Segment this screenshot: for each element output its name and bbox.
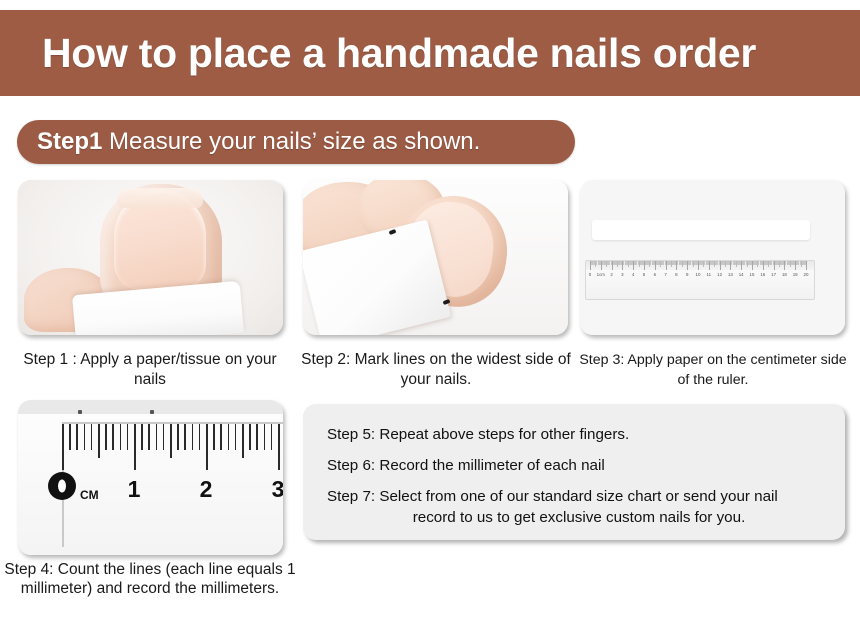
ruler-zero-marker — [48, 472, 76, 500]
ruler-tick — [235, 424, 237, 450]
ruler-tick — [242, 424, 244, 458]
ruler-tick — [170, 424, 172, 458]
paper-strip-shape — [592, 220, 810, 240]
ruler-number: 18 — [782, 272, 787, 277]
ruler-number: 11 — [707, 272, 712, 277]
ruler-closeup-photo: CM 123 — [18, 400, 283, 555]
ruler-tick — [184, 424, 186, 450]
ruler-pin-right — [150, 410, 154, 414]
fingertip-with-paper-photo — [18, 180, 283, 335]
ruler-tick — [256, 424, 258, 450]
ruler-number: 14 — [739, 272, 744, 277]
ruler-pin-left — [78, 410, 82, 414]
ruler-number: 7 — [664, 272, 666, 277]
step1-banner: Step1 Measure your nails’ size as shown. — [17, 120, 575, 164]
caption-step-2: Step 2: Mark lines on the widest side of… — [296, 350, 576, 390]
ruler-tick — [177, 424, 179, 450]
ruler-tick — [156, 424, 158, 450]
step-line-continuation: record to us to get exclusive custom nai… — [327, 507, 821, 528]
ruler-tick — [127, 424, 129, 450]
ruler-tick — [120, 424, 122, 450]
ruler-number: 2 — [610, 272, 612, 277]
ruler-tick — [112, 424, 114, 450]
ruler-tick — [141, 424, 143, 450]
ruler-number: 12 — [717, 272, 722, 277]
ruler-centimeter-number: 2 — [200, 478, 213, 501]
ruler-number: 16 — [760, 272, 765, 277]
ruler-number: 9 — [686, 272, 688, 277]
caption-step-3: Step 3: Apply paper on the centimeter si… — [572, 350, 854, 390]
step-line: Step 5: Repeat above steps for other fin… — [327, 424, 821, 445]
steps-list: Step 5: Repeat above steps for other fin… — [303, 404, 845, 528]
step-line: Step 7: Select from one of our standard … — [327, 486, 821, 528]
marked-paper-strip-photo — [303, 180, 568, 335]
ruler-number: 6 — [654, 272, 656, 277]
ruler-tick — [271, 424, 273, 450]
ruler-tick — [91, 424, 93, 450]
ruler-with-paper-photo: 01cm234567891011121314151617181920 — [580, 180, 845, 335]
step1-banner-label: Step1 Measure your nails’ size as shown. — [37, 128, 480, 156]
ruler-number: 17 — [771, 272, 776, 277]
caption-step-1: Step 1 : Apply a paper/tissue on your na… — [10, 350, 290, 390]
ruler-tick — [98, 424, 100, 458]
ruler-number: 8 — [675, 272, 677, 277]
ruler-tick — [105, 424, 107, 450]
ruler-number: 0 — [589, 272, 591, 277]
ruler-tick — [163, 424, 165, 450]
step1-bold-label: Step1 — [37, 128, 102, 155]
ruler-number: 10 — [696, 272, 701, 277]
ruler-tick — [228, 424, 230, 450]
steps-5-to-7-panel: Step 5: Repeat above steps for other fin… — [303, 404, 845, 540]
title-banner: How to place a handmade nails order — [0, 10, 860, 96]
ruler-tick — [199, 424, 201, 450]
ruler-tick — [62, 424, 64, 470]
ruler-number: 4 — [632, 272, 634, 277]
step-line: Step 6: Record the millimeter of each na… — [327, 455, 821, 476]
ruler-number: 13 — [728, 272, 733, 277]
caption-step-4: Step 4: Count the lines (each line equal… — [4, 560, 296, 598]
page-title: How to place a handmade nails order — [42, 30, 756, 77]
ruler-number: 5 — [643, 272, 645, 277]
ruler-tick — [278, 424, 280, 470]
infographic-page: How to place a handmade nails order Step… — [0, 0, 860, 631]
ruler-tick — [806, 261, 807, 270]
fingernail-tip-shape — [117, 188, 203, 208]
ruler-tick — [148, 424, 150, 450]
ruler-tick — [206, 424, 208, 470]
ruler-number: 3 — [621, 272, 623, 277]
step1-rest-label: Measure your nails’ size as shown. — [102, 128, 480, 155]
ruler-tick — [192, 424, 194, 450]
ruler-number: 1cm — [597, 272, 605, 277]
ruler-number: 20 — [804, 272, 809, 277]
ruler-number: 19 — [793, 272, 798, 277]
ruler-centimeter-number: 1 — [128, 478, 141, 501]
ruler-number: 15 — [750, 272, 755, 277]
ruler-tick — [249, 424, 251, 450]
ruler-tick — [76, 424, 78, 450]
ruler-tick — [264, 424, 266, 450]
ruler-unit-label: CM — [80, 488, 99, 502]
ruler-centimeter-number: 3 — [272, 478, 283, 501]
ruler-tick — [134, 424, 136, 470]
ruler-tick — [84, 424, 86, 450]
photo-background — [580, 180, 845, 335]
ruler-tick — [213, 424, 215, 450]
ruler-shape: 01cm234567891011121314151617181920 — [585, 260, 815, 300]
ruler-tick — [69, 424, 71, 450]
ruler-tick — [220, 424, 222, 450]
